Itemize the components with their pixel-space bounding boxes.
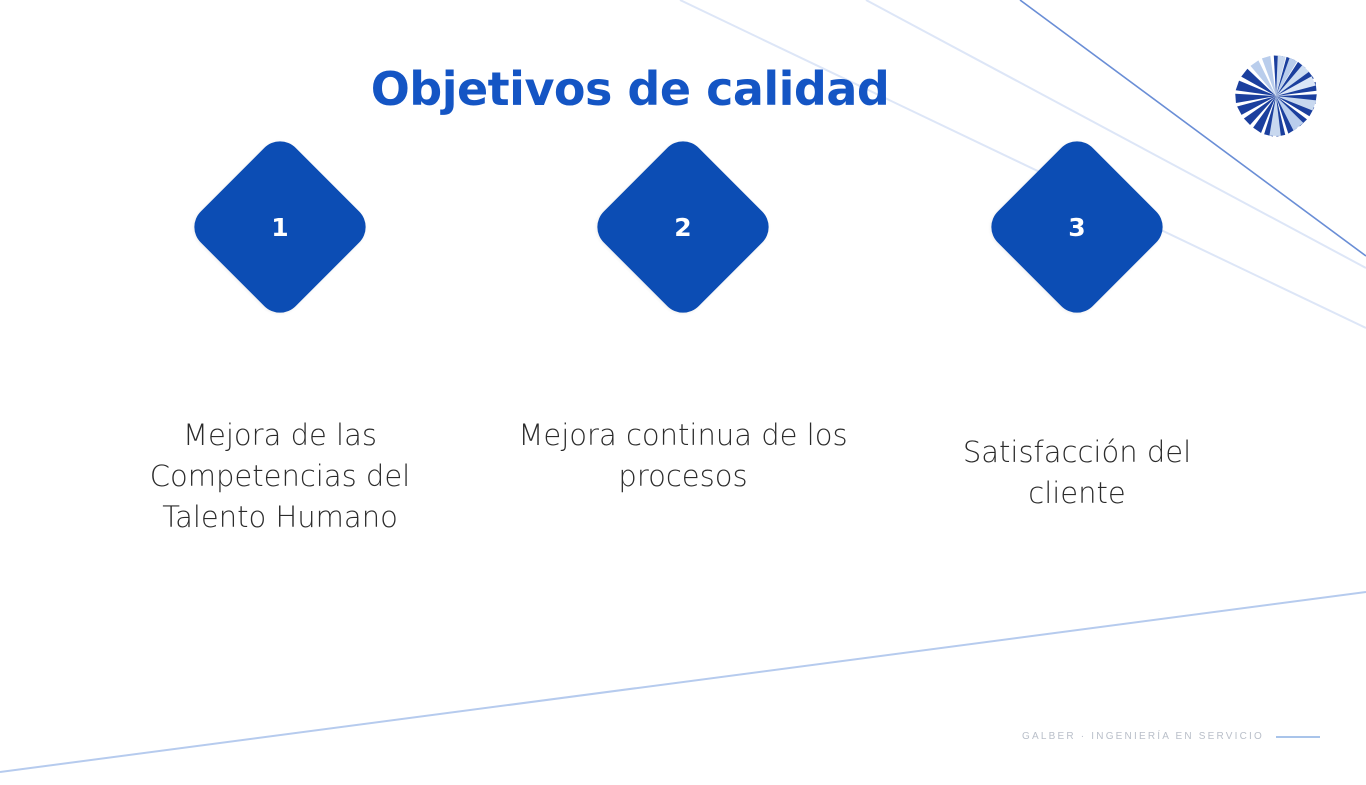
diamond-number-3: 3 — [1010, 160, 1144, 294]
footer-rule-divider — [1276, 736, 1320, 738]
diamond-badge-1: 1 — [115, 150, 445, 350]
diamond-number-1: 1 — [213, 160, 347, 294]
slide-canvas: Objetivos de calidad 1 Mejora de las Com… — [0, 0, 1366, 785]
footer-brand-text: GALBER · INGENIERÍA EN SERVICIO — [1022, 731, 1264, 742]
diamond-number-2: 2 — [616, 160, 750, 294]
objective-item-1: 1 Mejora de las Competencias del Talento… — [115, 150, 445, 350]
objective-caption-2: Mejora continua de los procesos — [518, 415, 848, 497]
objective-item-3: 3 Satisfacción del cliente — [912, 150, 1242, 350]
slide-title: Objetivos de calidad — [0, 64, 1260, 115]
decor-line-bottom-1 — [0, 592, 1366, 772]
objective-item-2: 2 Mejora continua de los procesos — [518, 150, 848, 350]
slide-footer: GALBER · INGENIERÍA EN SERVICIO — [1022, 731, 1320, 742]
diamond-badge-2: 2 — [518, 150, 848, 350]
objective-caption-1: Mejora de las Competencias del Talento H… — [115, 415, 445, 539]
decorative-lines — [0, 0, 1366, 785]
objective-caption-3: Satisfacción del cliente — [912, 432, 1242, 514]
diamond-badge-3: 3 — [912, 150, 1242, 350]
